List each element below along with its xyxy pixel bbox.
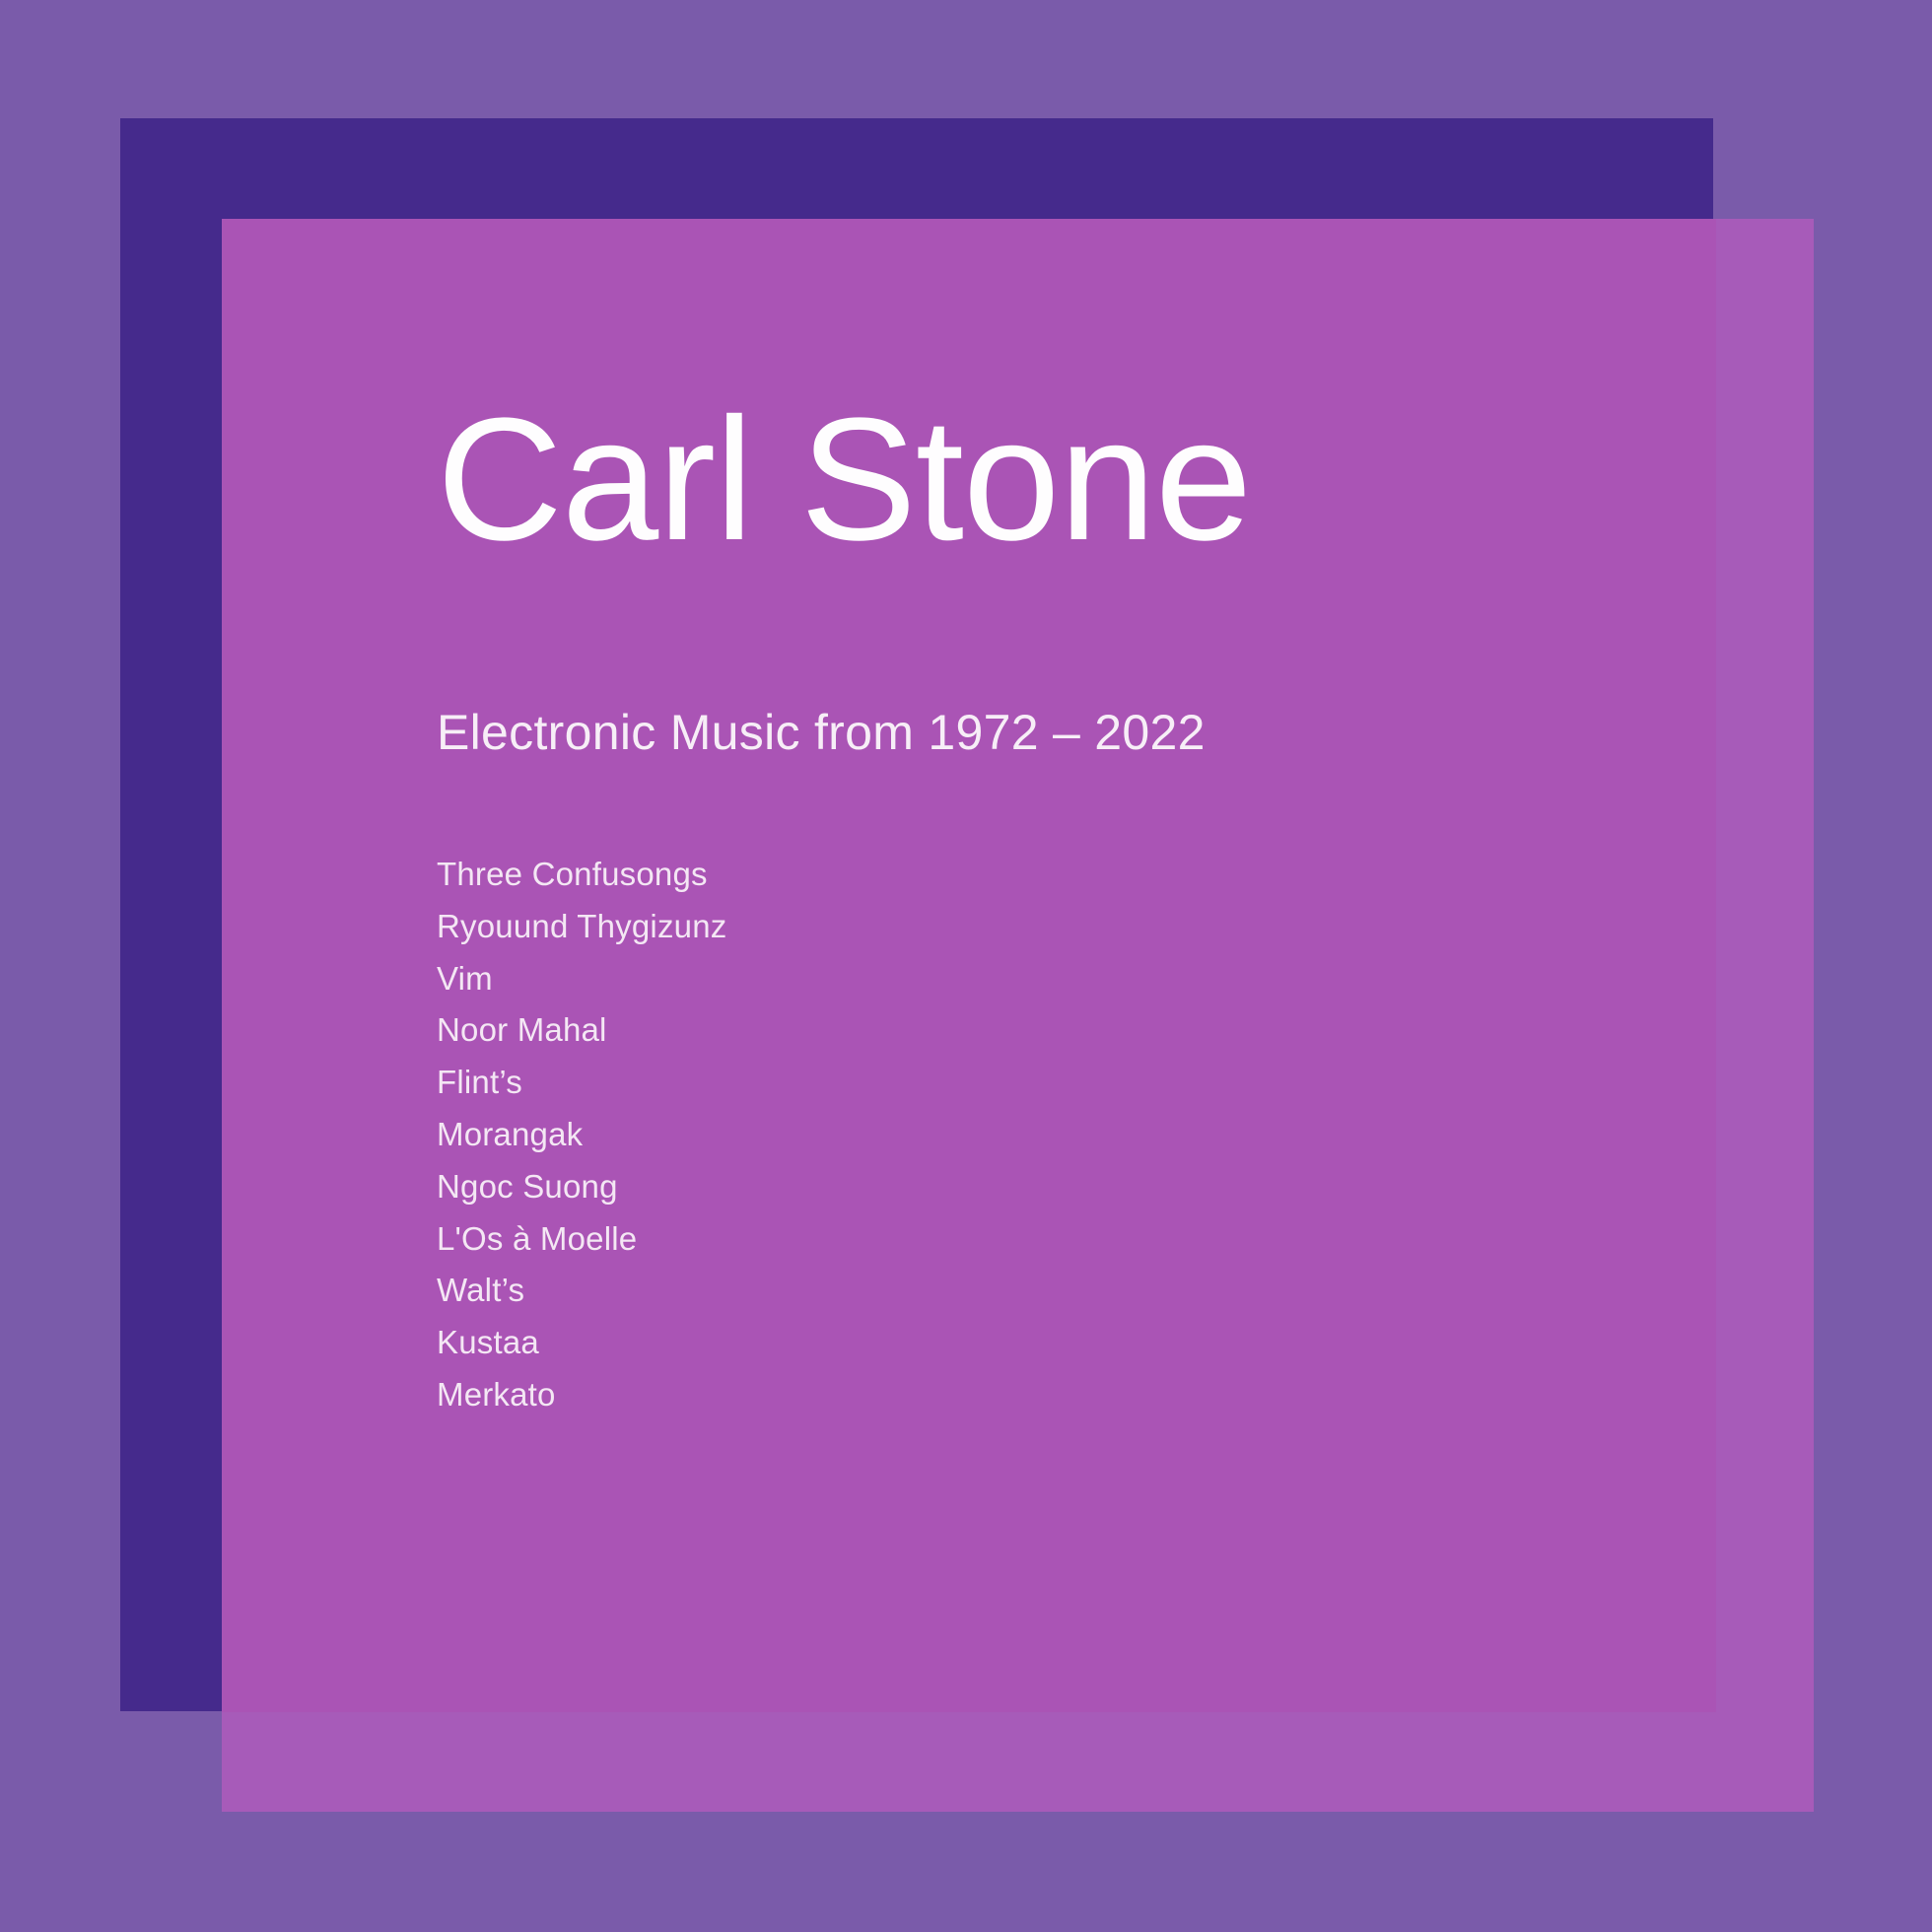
track-list-item: Flint’s — [437, 1057, 726, 1109]
track-list-item: Kustaa — [437, 1317, 726, 1369]
track-list-item: Noor Mahal — [437, 1004, 726, 1057]
track-list-item: Morangak — [437, 1109, 726, 1161]
track-list-item: Walt’s — [437, 1265, 726, 1317]
track-list-item: Merkato — [437, 1369, 726, 1421]
track-listing: Three ConfusongsRyouund ThygizunzVimNoor… — [437, 849, 726, 1421]
album-artist-title: Carl Stone — [437, 392, 1251, 567]
track-list-item: Vim — [437, 953, 726, 1005]
track-list-item: Ryouund Thygizunz — [437, 901, 726, 953]
track-list-item: Three Confusongs — [437, 849, 726, 901]
track-list-item: Ngoc Suong — [437, 1161, 726, 1213]
album-cover-artwork: Carl Stone Electronic Music from 1972 – … — [0, 0, 1932, 1932]
album-subtitle: Electronic Music from 1972 – 2022 — [437, 708, 1206, 757]
track-list-item: L'Os à Moelle — [437, 1213, 726, 1266]
